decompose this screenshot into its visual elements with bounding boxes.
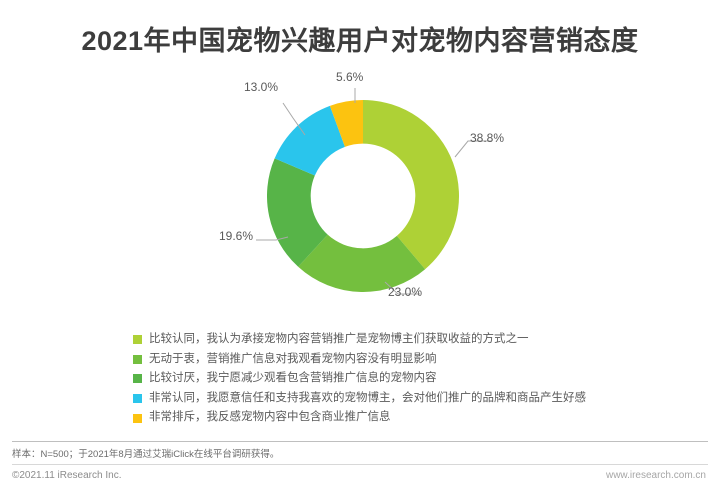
site-url: www.iresearch.com.cn bbox=[606, 470, 706, 481]
legend-item-label: 非常排斥，我反感宠物内容中包含商业推广信息 bbox=[149, 412, 391, 424]
copyright-text: ©2021.11 iResearch Inc. bbox=[12, 470, 121, 481]
legend-item-label: 无动于衷，营销推广信息对我观看宠物内容没有明显影响 bbox=[149, 354, 437, 366]
legend-item-label: 比较认同，我认为承接宠物内容营销推广是宠物博主们获取收益的方式之一 bbox=[149, 334, 529, 346]
slice-value-label-2: 23.0% bbox=[388, 285, 422, 299]
slice-value-label-3: 19.6% bbox=[219, 229, 253, 243]
legend-swatch-icon bbox=[133, 374, 142, 383]
legend-item[interactable]: 无动于衷，营销推广信息对我观看宠物内容没有明显影响 bbox=[133, 350, 653, 370]
donut-slice[interactable] bbox=[363, 100, 459, 269]
slice-value-label-5: 5.6% bbox=[336, 70, 363, 84]
legend-item[interactable]: 非常排斥，我反感宠物内容中包含商业推广信息 bbox=[133, 408, 653, 428]
chart-legend: 比较认同，我认为承接宠物内容营销推广是宠物博主们获取收益的方式之一无动于衷，营销… bbox=[133, 330, 653, 428]
legend-swatch-icon bbox=[133, 335, 142, 344]
legend-item[interactable]: 比较讨厌，我宁愿减少观看包含营销推广信息的宠物内容 bbox=[133, 369, 653, 389]
slide-canvas: 2021年中国宠物兴趣用户对宠物内容营销态度 38.8% 23.0% 19.6%… bbox=[0, 0, 720, 491]
legend-item-label: 比较讨厌，我宁愿减少观看包含营销推广信息的宠物内容 bbox=[149, 373, 437, 385]
donut-chart bbox=[267, 100, 459, 292]
legend-swatch-icon bbox=[133, 355, 142, 364]
page-title: 2021年中国宠物兴趣用户对宠物内容营销态度 bbox=[0, 19, 720, 58]
donut-slice-group bbox=[267, 100, 459, 292]
donut-svg bbox=[267, 100, 459, 292]
legend-item[interactable]: 比较认同，我认为承接宠物内容营销推广是宠物博主们获取收益的方式之一 bbox=[133, 330, 653, 350]
slice-value-label-4: 13.0% bbox=[244, 80, 278, 94]
footer-divider bbox=[12, 464, 708, 465]
slice-value-label-1: 38.8% bbox=[470, 131, 504, 145]
sample-note: 样本：N=500；于2021年8月通过艾瑞iClick在线平台调研获得。 bbox=[12, 446, 279, 460]
legend-item[interactable]: 非常认同，我愿意信任和支持我喜欢的宠物博主，会对他们推广的品牌和商品产生好感 bbox=[133, 389, 653, 409]
legend-swatch-icon bbox=[133, 394, 142, 403]
sample-note-divider bbox=[12, 441, 708, 442]
legend-item-label: 非常认同，我愿意信任和支持我喜欢的宠物博主，会对他们推广的品牌和商品产生好感 bbox=[149, 393, 586, 405]
legend-swatch-icon bbox=[133, 414, 142, 423]
